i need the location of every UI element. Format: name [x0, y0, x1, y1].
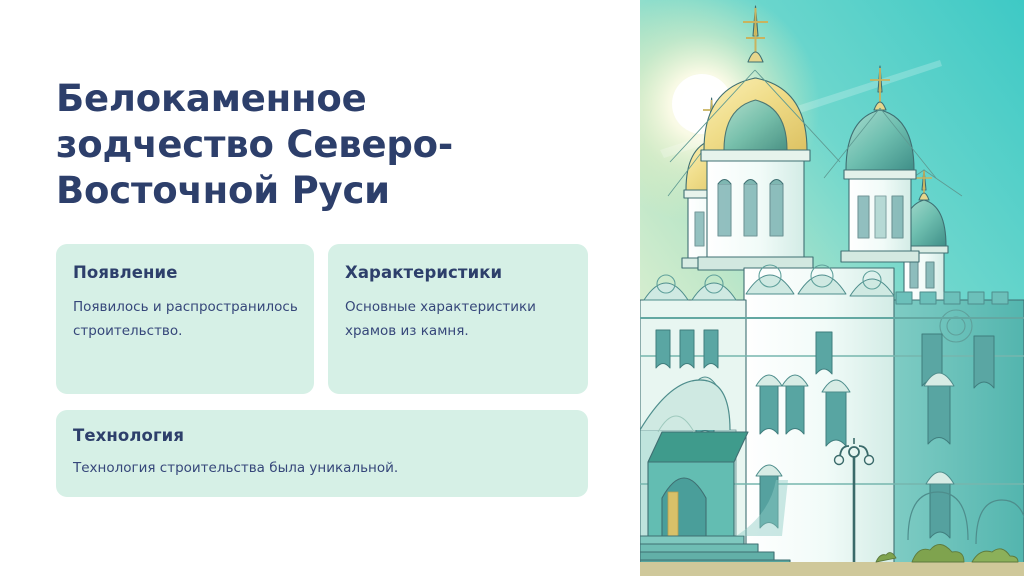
card-title: Появление: [73, 263, 178, 282]
info-card-characteristics: Характеристики Основные характеристики х…: [328, 244, 588, 394]
page-title: Белокаменное зодчество Северо-Восточной …: [56, 76, 526, 214]
info-card-appearance: Появление Появилось и распространилось с…: [56, 244, 314, 394]
content-panel: Белокаменное зодчество Северо-Восточной …: [0, 0, 640, 576]
ground: [640, 562, 1024, 576]
card-body: Появилось и распространилось строительст…: [73, 296, 300, 344]
cathedral-illustration-svg: [640, 0, 1024, 576]
card-body: Технология строительства была уникальной…: [73, 458, 570, 478]
slide: Белокаменное зодчество Северо-Восточной …: [0, 0, 1024, 576]
info-card-technology: Технология Технология строительства была…: [56, 410, 588, 497]
card-body: Основные характеристики храмов из камня.: [345, 296, 574, 344]
cathedral-facade: [640, 265, 1024, 576]
card-title: Характеристики: [345, 263, 502, 282]
card-title: Технология: [73, 426, 184, 445]
cathedral-illustration: [640, 0, 1024, 576]
